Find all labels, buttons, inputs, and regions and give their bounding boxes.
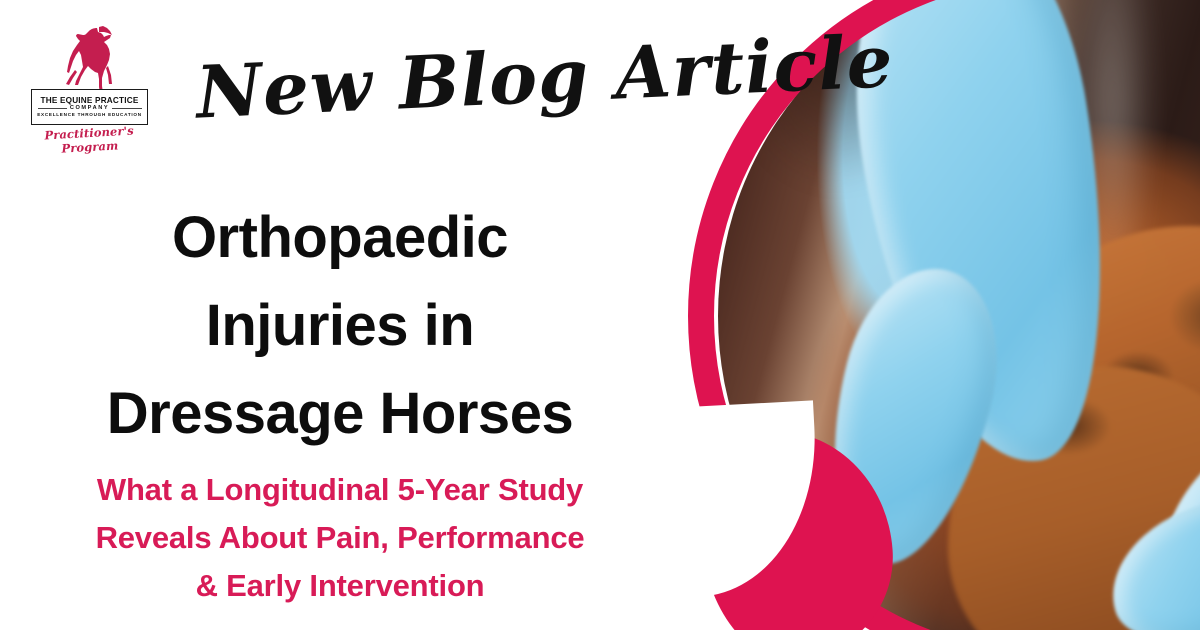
logo-wordmark-box: THE EQUINE PRACTICE COMPANY EXCELLENCE T… (31, 89, 148, 125)
subhead-line-1: What a Longitudinal 5-Year Study (14, 466, 666, 514)
headline-line-1: Orthopaedic (10, 194, 670, 282)
headline-line-2: Injuries in (10, 282, 670, 370)
logo-program-script: Practitioner's Program (26, 123, 152, 158)
subhead-line-2: Reveals About Pain, Performance (14, 514, 666, 562)
rearing-horse-icon (53, 26, 125, 92)
blog-article-banner: THE EQUINE PRACTICE COMPANY EXCELLENCE T… (0, 0, 1200, 630)
page-title: Orthopaedic Injuries in Dressage Horses (10, 194, 670, 458)
logo-line-3: EXCELLENCE THROUGH EDUCATION (37, 113, 142, 118)
eyebrow-new-blog-article: New Blog Article (194, 23, 668, 140)
subhead-line-3: & Early Intervention (14, 562, 666, 610)
headline-line-3: Dressage Horses (10, 370, 670, 458)
brand-logo[interactable]: THE EQUINE PRACTICE COMPANY EXCELLENCE T… (27, 26, 152, 150)
page-subtitle: What a Longitudinal 5-Year Study Reveals… (14, 466, 666, 610)
logo-line-2: COMPANY (38, 106, 142, 112)
logo-line-1: THE EQUINE PRACTICE (41, 97, 139, 105)
